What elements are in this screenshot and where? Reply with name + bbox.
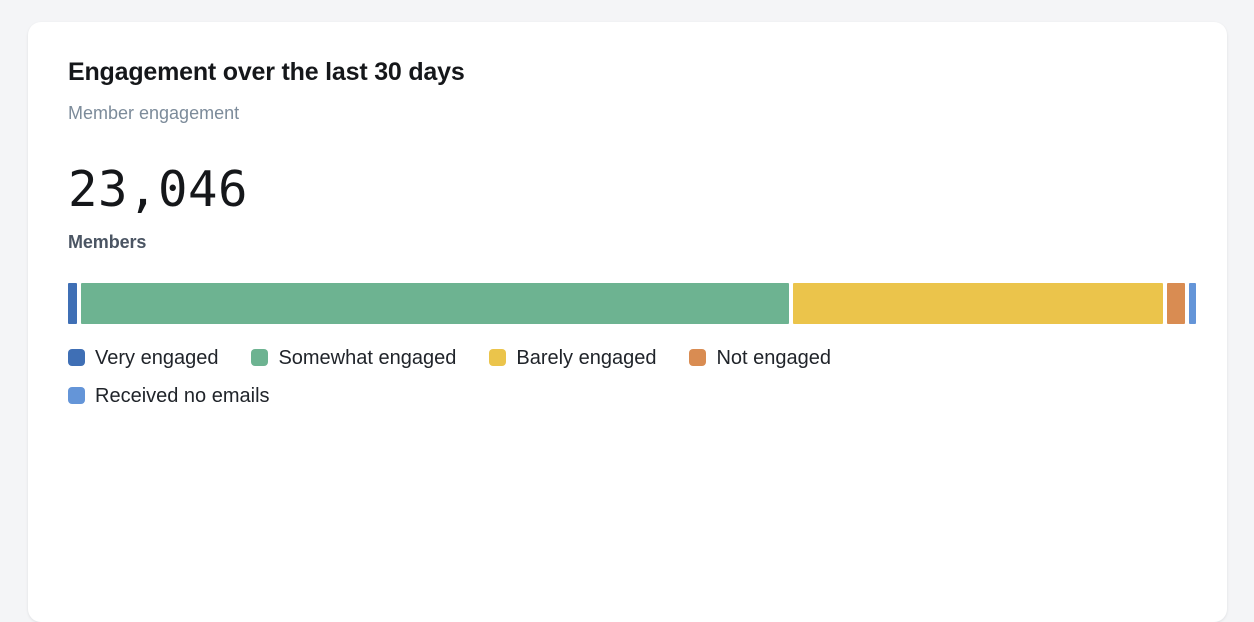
card-content: Engagement over the last 30 days Member … — [68, 58, 1203, 408]
bar-segment-somewhat-engaged[interactable] — [81, 283, 789, 324]
bar-segment-received-no-emails[interactable] — [1189, 283, 1196, 324]
card-subtitle: Member engagement — [68, 103, 1203, 125]
bar-segment-barely-engaged[interactable] — [793, 283, 1163, 324]
legend-swatch-barely-engaged — [489, 349, 506, 366]
legend-label: Somewhat engaged — [278, 348, 456, 368]
engagement-card: Engagement over the last 30 days Member … — [28, 22, 1227, 622]
legend-item-not-engaged[interactable]: Not engaged — [689, 346, 831, 370]
bar-segment-not-engaged[interactable] — [1167, 283, 1185, 324]
page-title: Engagement over the last 30 days — [68, 58, 1203, 87]
legend-item-somewhat-engaged[interactable]: Somewhat engaged — [251, 346, 456, 370]
legend-label: Very engaged — [95, 348, 218, 368]
legend-swatch-somewhat-engaged — [251, 349, 268, 366]
chart-legend: Very engagedSomewhat engagedBarely engag… — [68, 346, 998, 408]
metric-value: 23,046 — [68, 164, 1203, 215]
bar-segment-very-engaged[interactable] — [68, 283, 77, 324]
legend-label: Barely engaged — [516, 348, 656, 368]
page-root: Engagement over the last 30 days Member … — [0, 0, 1254, 580]
legend-item-very-engaged[interactable]: Very engaged — [68, 346, 218, 370]
metric-label: Members — [68, 232, 1203, 253]
legend-item-received-no-emails[interactable]: Received no emails — [68, 384, 270, 408]
legend-item-barely-engaged[interactable]: Barely engaged — [489, 346, 656, 370]
legend-swatch-not-engaged — [689, 349, 706, 366]
legend-swatch-received-no-emails — [68, 387, 85, 404]
legend-label: Not engaged — [716, 348, 831, 368]
metric-block: 23,046 Members — [68, 164, 1203, 252]
legend-label: Received no emails — [95, 386, 270, 406]
legend-swatch-very-engaged — [68, 349, 85, 366]
stacked-bar-chart — [68, 283, 1196, 324]
